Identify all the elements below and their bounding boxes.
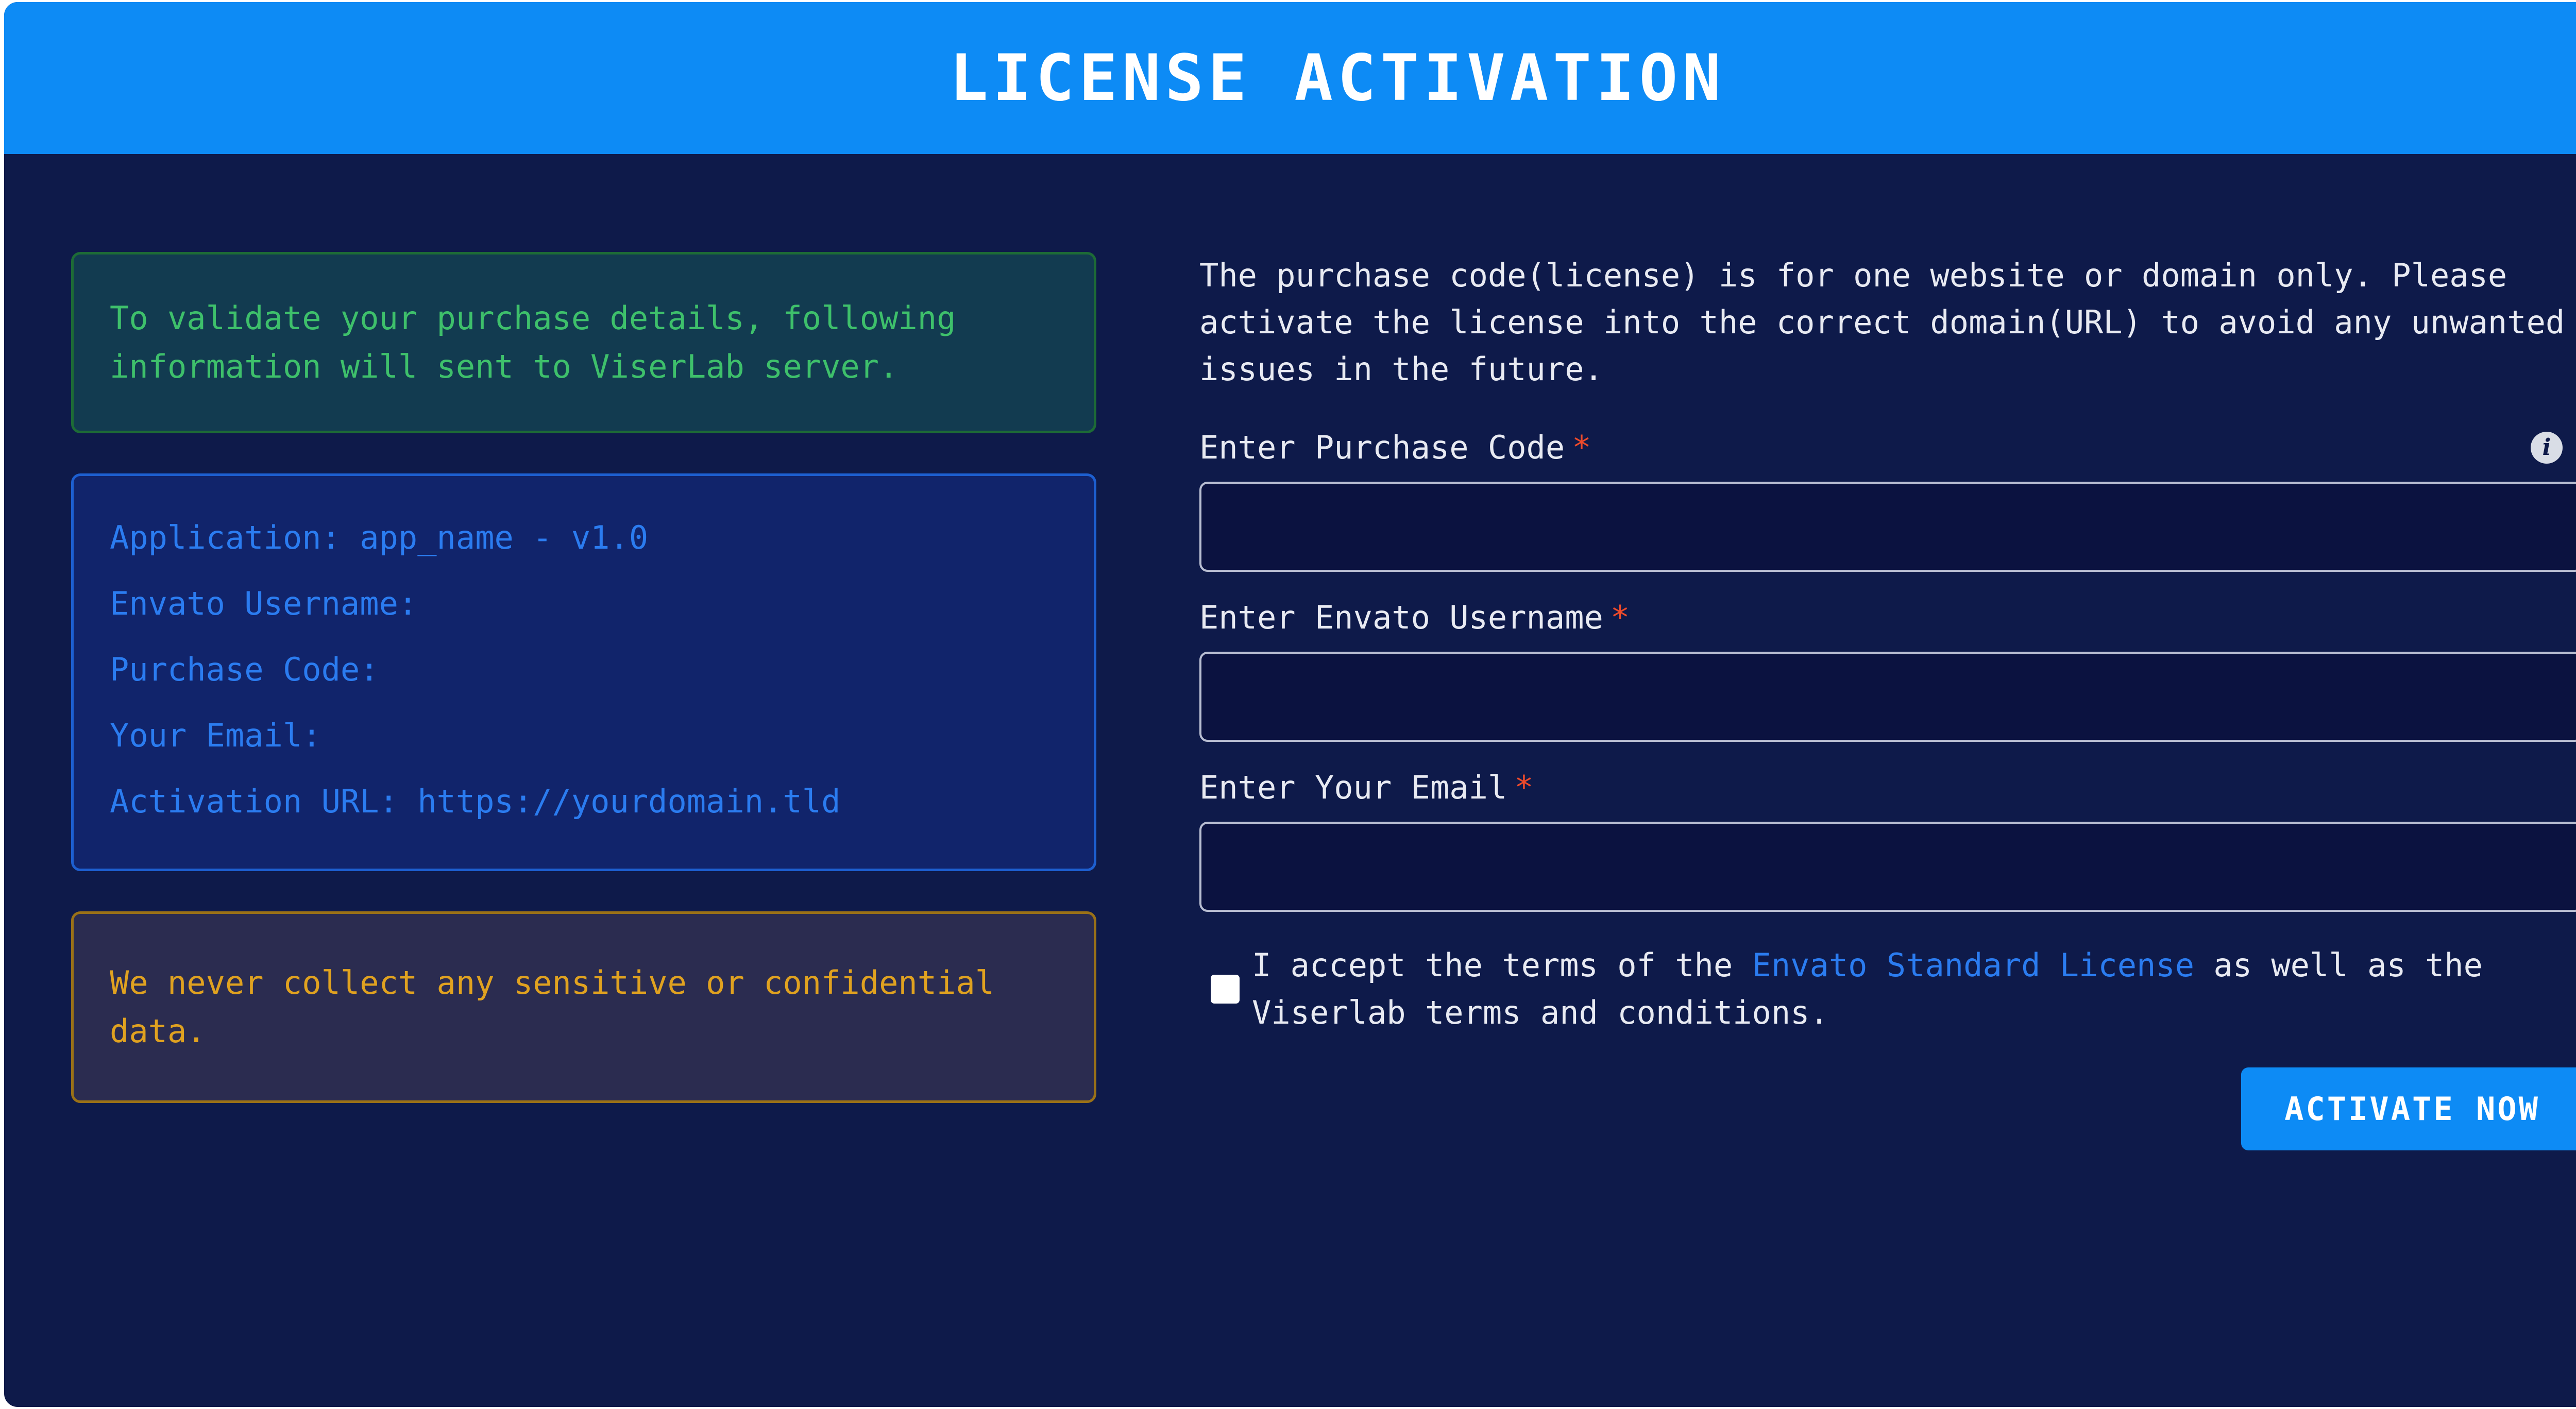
terms-text-before: I accept the terms of the [1252,946,1752,984]
card-body: To validate your purchase details, follo… [4,154,2576,1150]
purchase-info-panel: Application: app_name - v1.0 Envato User… [71,473,1096,871]
email-label-wrap: Enter Your Email* [1199,769,1534,806]
field-group-envato-username: Enter Envato Username* [1199,599,2576,742]
button-row: ACTIVATE NOW [1199,1067,2576,1150]
info-icon[interactable]: i [2531,432,2563,464]
email-required-marker: * [1514,769,1533,806]
license-activation-card: LICENSE ACTIVATION To validate your purc… [4,2,2576,1407]
info-line-application: Application: app_name - v1.0 [110,505,1058,571]
email-label-row: Enter Your Email* [1199,769,2576,806]
terms-row: I accept the terms of the Envato Standar… [1199,942,2576,1037]
page-title: LICENSE ACTIVATION [950,41,1725,115]
info-line-your-email: Your Email: [110,703,1058,769]
privacy-warning-alert-text: We never collect any sensitive or confid… [110,959,1058,1056]
purchase-code-label: Enter Purchase Code [1199,429,1565,466]
envato-username-required-marker: * [1611,599,1630,636]
terms-checkbox[interactable] [1211,975,1240,1004]
email-input[interactable] [1199,822,2576,912]
info-line-purchase-code: Purchase Code: [110,637,1058,703]
envato-username-label-row: Enter Envato Username* [1199,599,2576,636]
purchase-code-required-marker: * [1572,429,1591,466]
purchase-code-label-row: Enter Purchase Code* i [1199,429,2576,466]
license-notice-text: The purchase code(license) is for one we… [1199,252,2576,393]
server-info-alert-text: To validate your purchase details, follo… [110,294,1058,391]
activate-now-button[interactable]: ACTIVATE NOW [2241,1067,2576,1150]
privacy-warning-alert: We never collect any sensitive or confid… [71,911,1096,1103]
info-line-envato-username: Envato Username: [110,571,1058,637]
envato-username-input[interactable] [1199,652,2576,742]
card-header: LICENSE ACTIVATION [4,2,2576,154]
purchase-code-label-wrap: Enter Purchase Code* [1199,429,1591,466]
envato-standard-license-link[interactable]: Envato Standard License [1752,946,2195,984]
purchase-code-input[interactable] [1199,482,2576,572]
field-group-purchase-code: Enter Purchase Code* i [1199,429,2576,572]
server-info-alert: To validate your purchase details, follo… [71,252,1096,433]
field-group-email: Enter Your Email* [1199,769,2576,912]
info-line-activation-url: Activation URL: https://yourdomain.tld [110,769,1058,835]
right-column: The purchase code(license) is for one we… [1096,252,2576,1150]
envato-username-label: Enter Envato Username [1199,599,1603,636]
envato-username-label-wrap: Enter Envato Username* [1199,599,1630,636]
email-label: Enter Your Email [1199,769,1507,806]
left-column: To validate your purchase details, follo… [71,252,1096,1103]
terms-text: I accept the terms of the Envato Standar… [1252,942,2576,1037]
